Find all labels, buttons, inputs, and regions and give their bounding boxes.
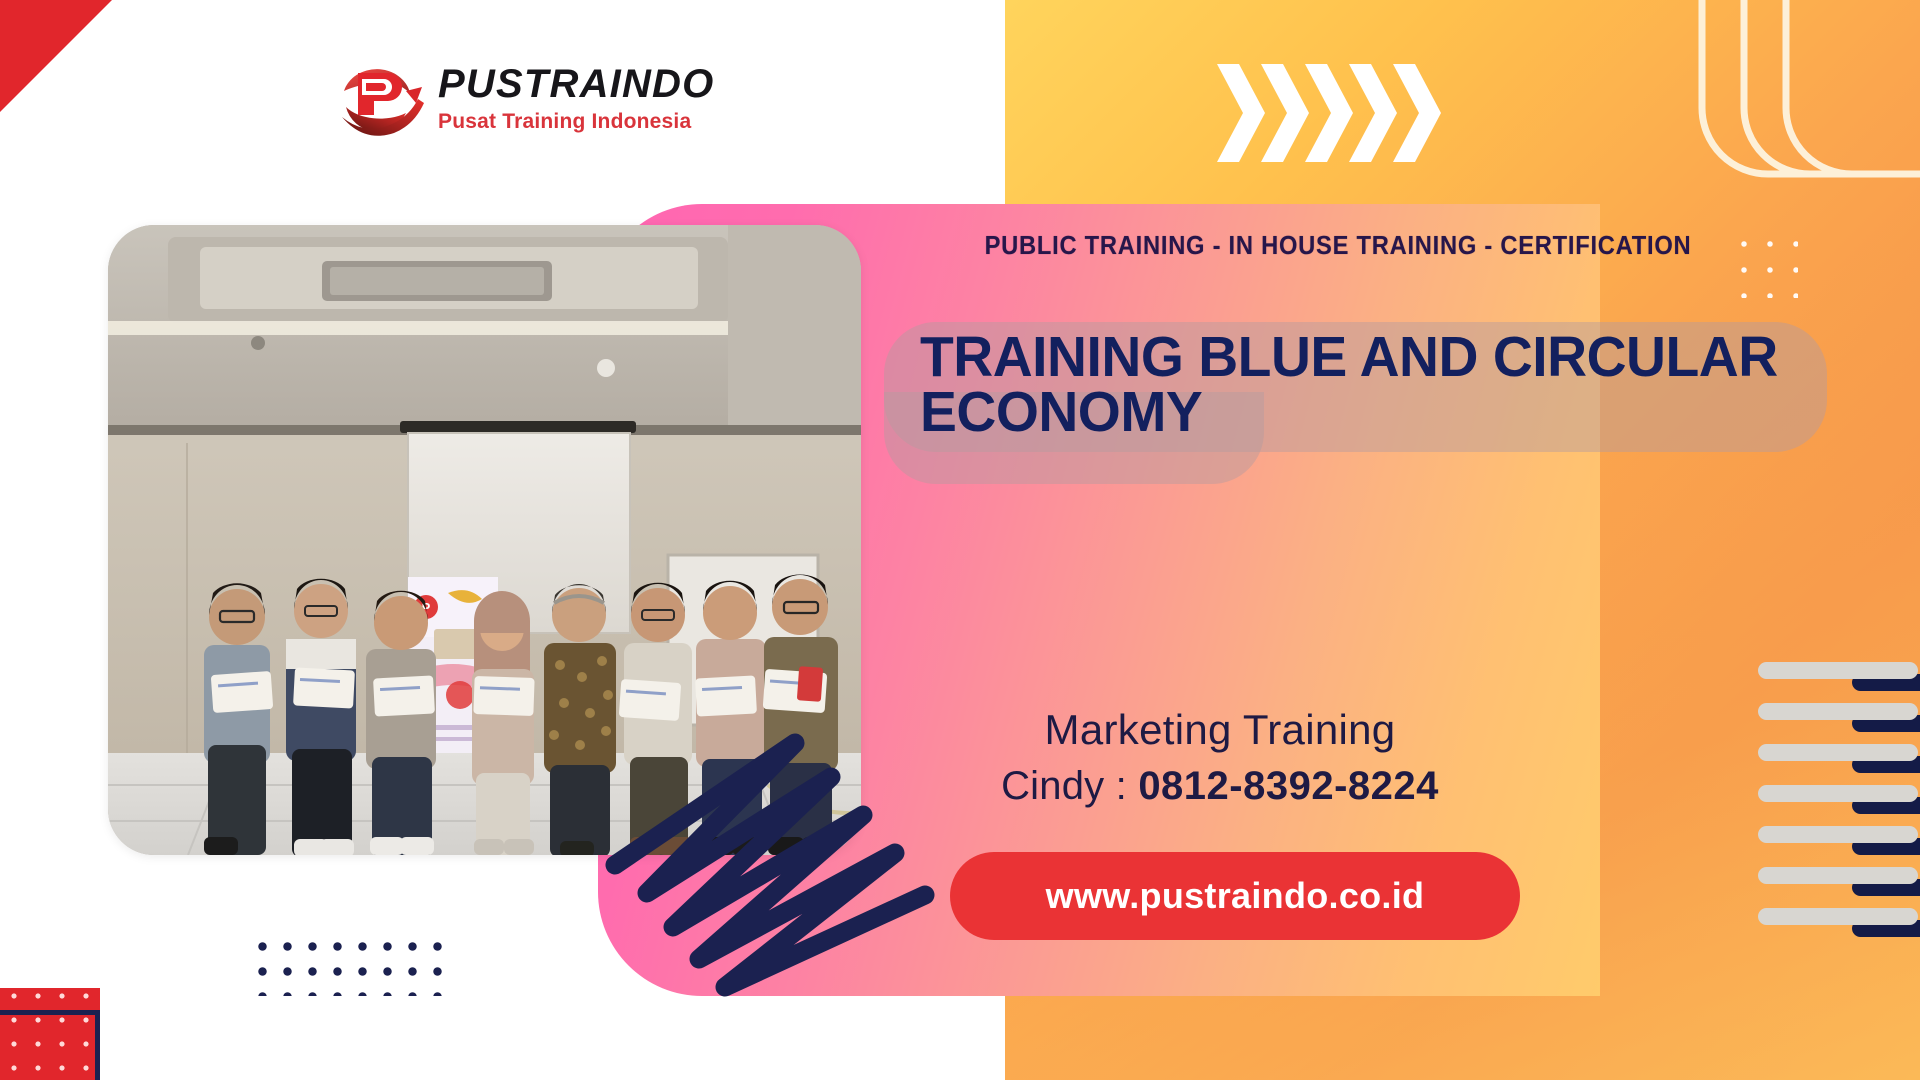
bar-row <box>1740 824 1920 865</box>
banner-subtitle: PUBLIC TRAINING - IN HOUSE TRAINING - CE… <box>985 232 1692 261</box>
bar-row <box>1740 701 1920 742</box>
contact-phone-line: Cindy : 0812-8392-8224 <box>940 764 1500 809</box>
banner-canvas: P <box>0 0 1920 1080</box>
page-title: TRAINING BLUE AND CIRCULAR ECONOMY <box>920 330 1842 439</box>
stacked-bar-lines <box>1740 660 1920 950</box>
bar-row <box>1740 742 1920 783</box>
bar-row <box>1740 660 1920 701</box>
contact-name-label: Cindy : <box>1001 764 1138 808</box>
concentric-arc-lines <box>1660 0 1920 218</box>
contact-block: Marketing Training Cindy : 0812-8392-822… <box>940 706 1500 809</box>
contact-phone: 0812-8392-8224 <box>1138 764 1439 808</box>
logo-tagline: Pusat Training Indonesia <box>438 111 714 132</box>
bar-row <box>1740 906 1920 947</box>
contact-role: Marketing Training <box>940 706 1500 754</box>
website-label: www.pustraindo.co.id <box>1046 875 1425 917</box>
navy-dot-grid <box>246 928 446 996</box>
bar-row <box>1740 865 1920 906</box>
navy-scribble-icon <box>595 715 940 1005</box>
logo-name: PUSTRAINDO <box>438 64 714 104</box>
red-triangle-corner <box>0 0 112 112</box>
p-globe-arrow-logo-icon <box>332 55 424 141</box>
bar-row <box>1740 783 1920 824</box>
website-button[interactable]: www.pustraindo.co.id <box>950 852 1520 940</box>
chevron-right-icon <box>1215 58 1455 168</box>
logo-text-block: PUSTRAINDO Pusat Training Indonesia <box>438 64 714 132</box>
white-dot-grid <box>1728 228 1798 298</box>
navy-outline-square <box>0 1010 100 1080</box>
brand-logo[interactable]: PUSTRAINDO Pusat Training Indonesia <box>332 52 752 144</box>
